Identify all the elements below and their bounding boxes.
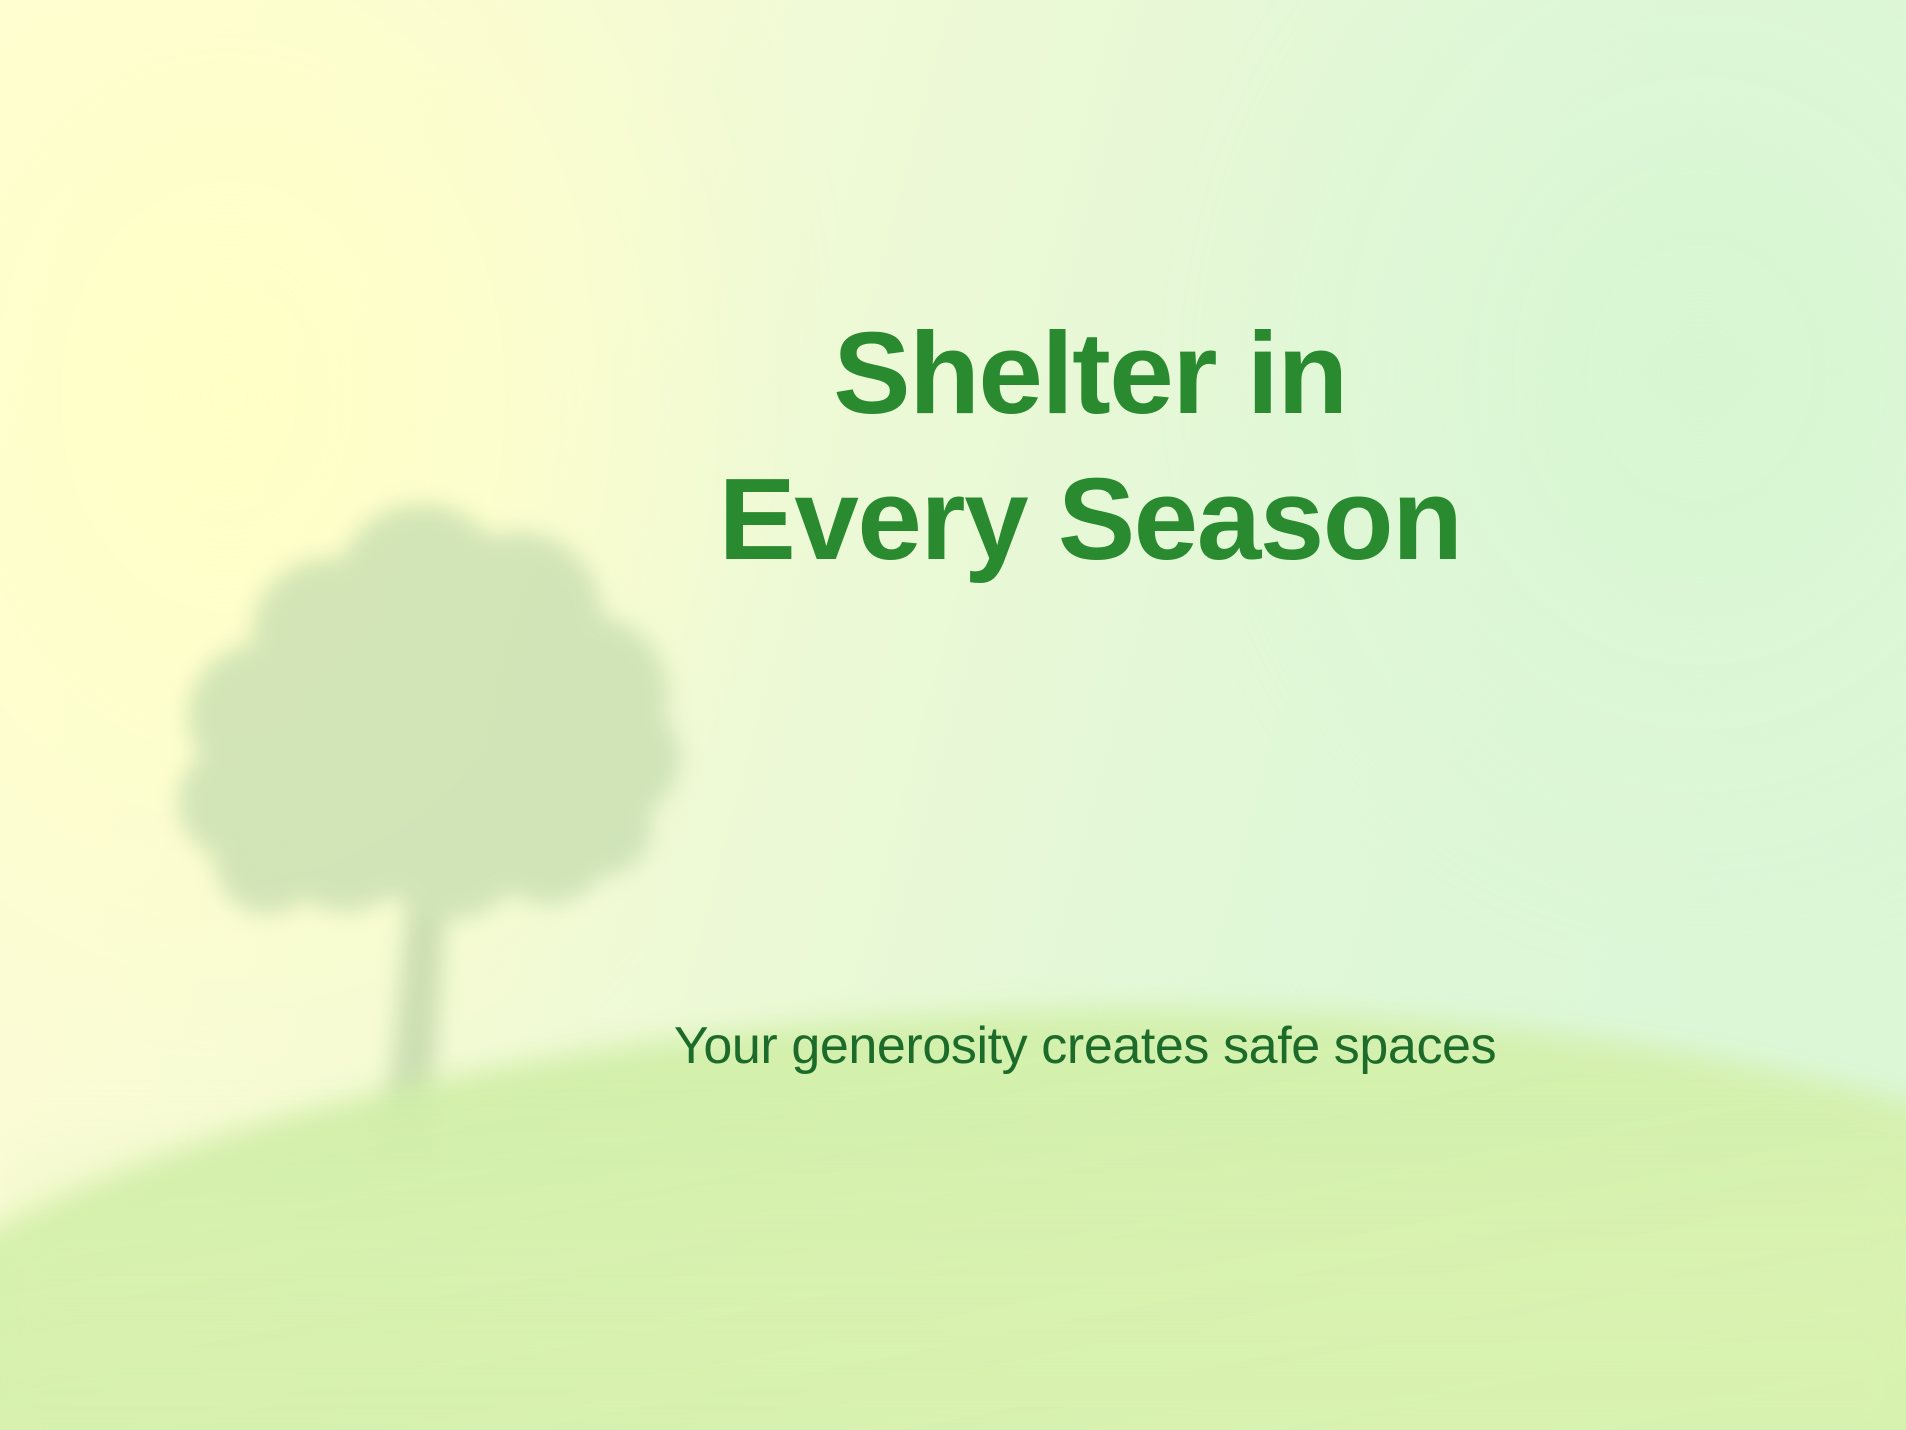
title-slide: Shelter in Every Season Your generosity … — [0, 0, 1906, 1430]
subtitle-block: Your generosity creates safe spaces — [500, 1015, 1670, 1077]
subtitle-text: Your generosity creates safe spaces — [500, 1015, 1670, 1077]
headline-block: Shelter in Every Season — [560, 300, 1620, 592]
hill-soft-overlay — [0, 1100, 1906, 1430]
page-title: Shelter in Every Season — [560, 300, 1620, 592]
